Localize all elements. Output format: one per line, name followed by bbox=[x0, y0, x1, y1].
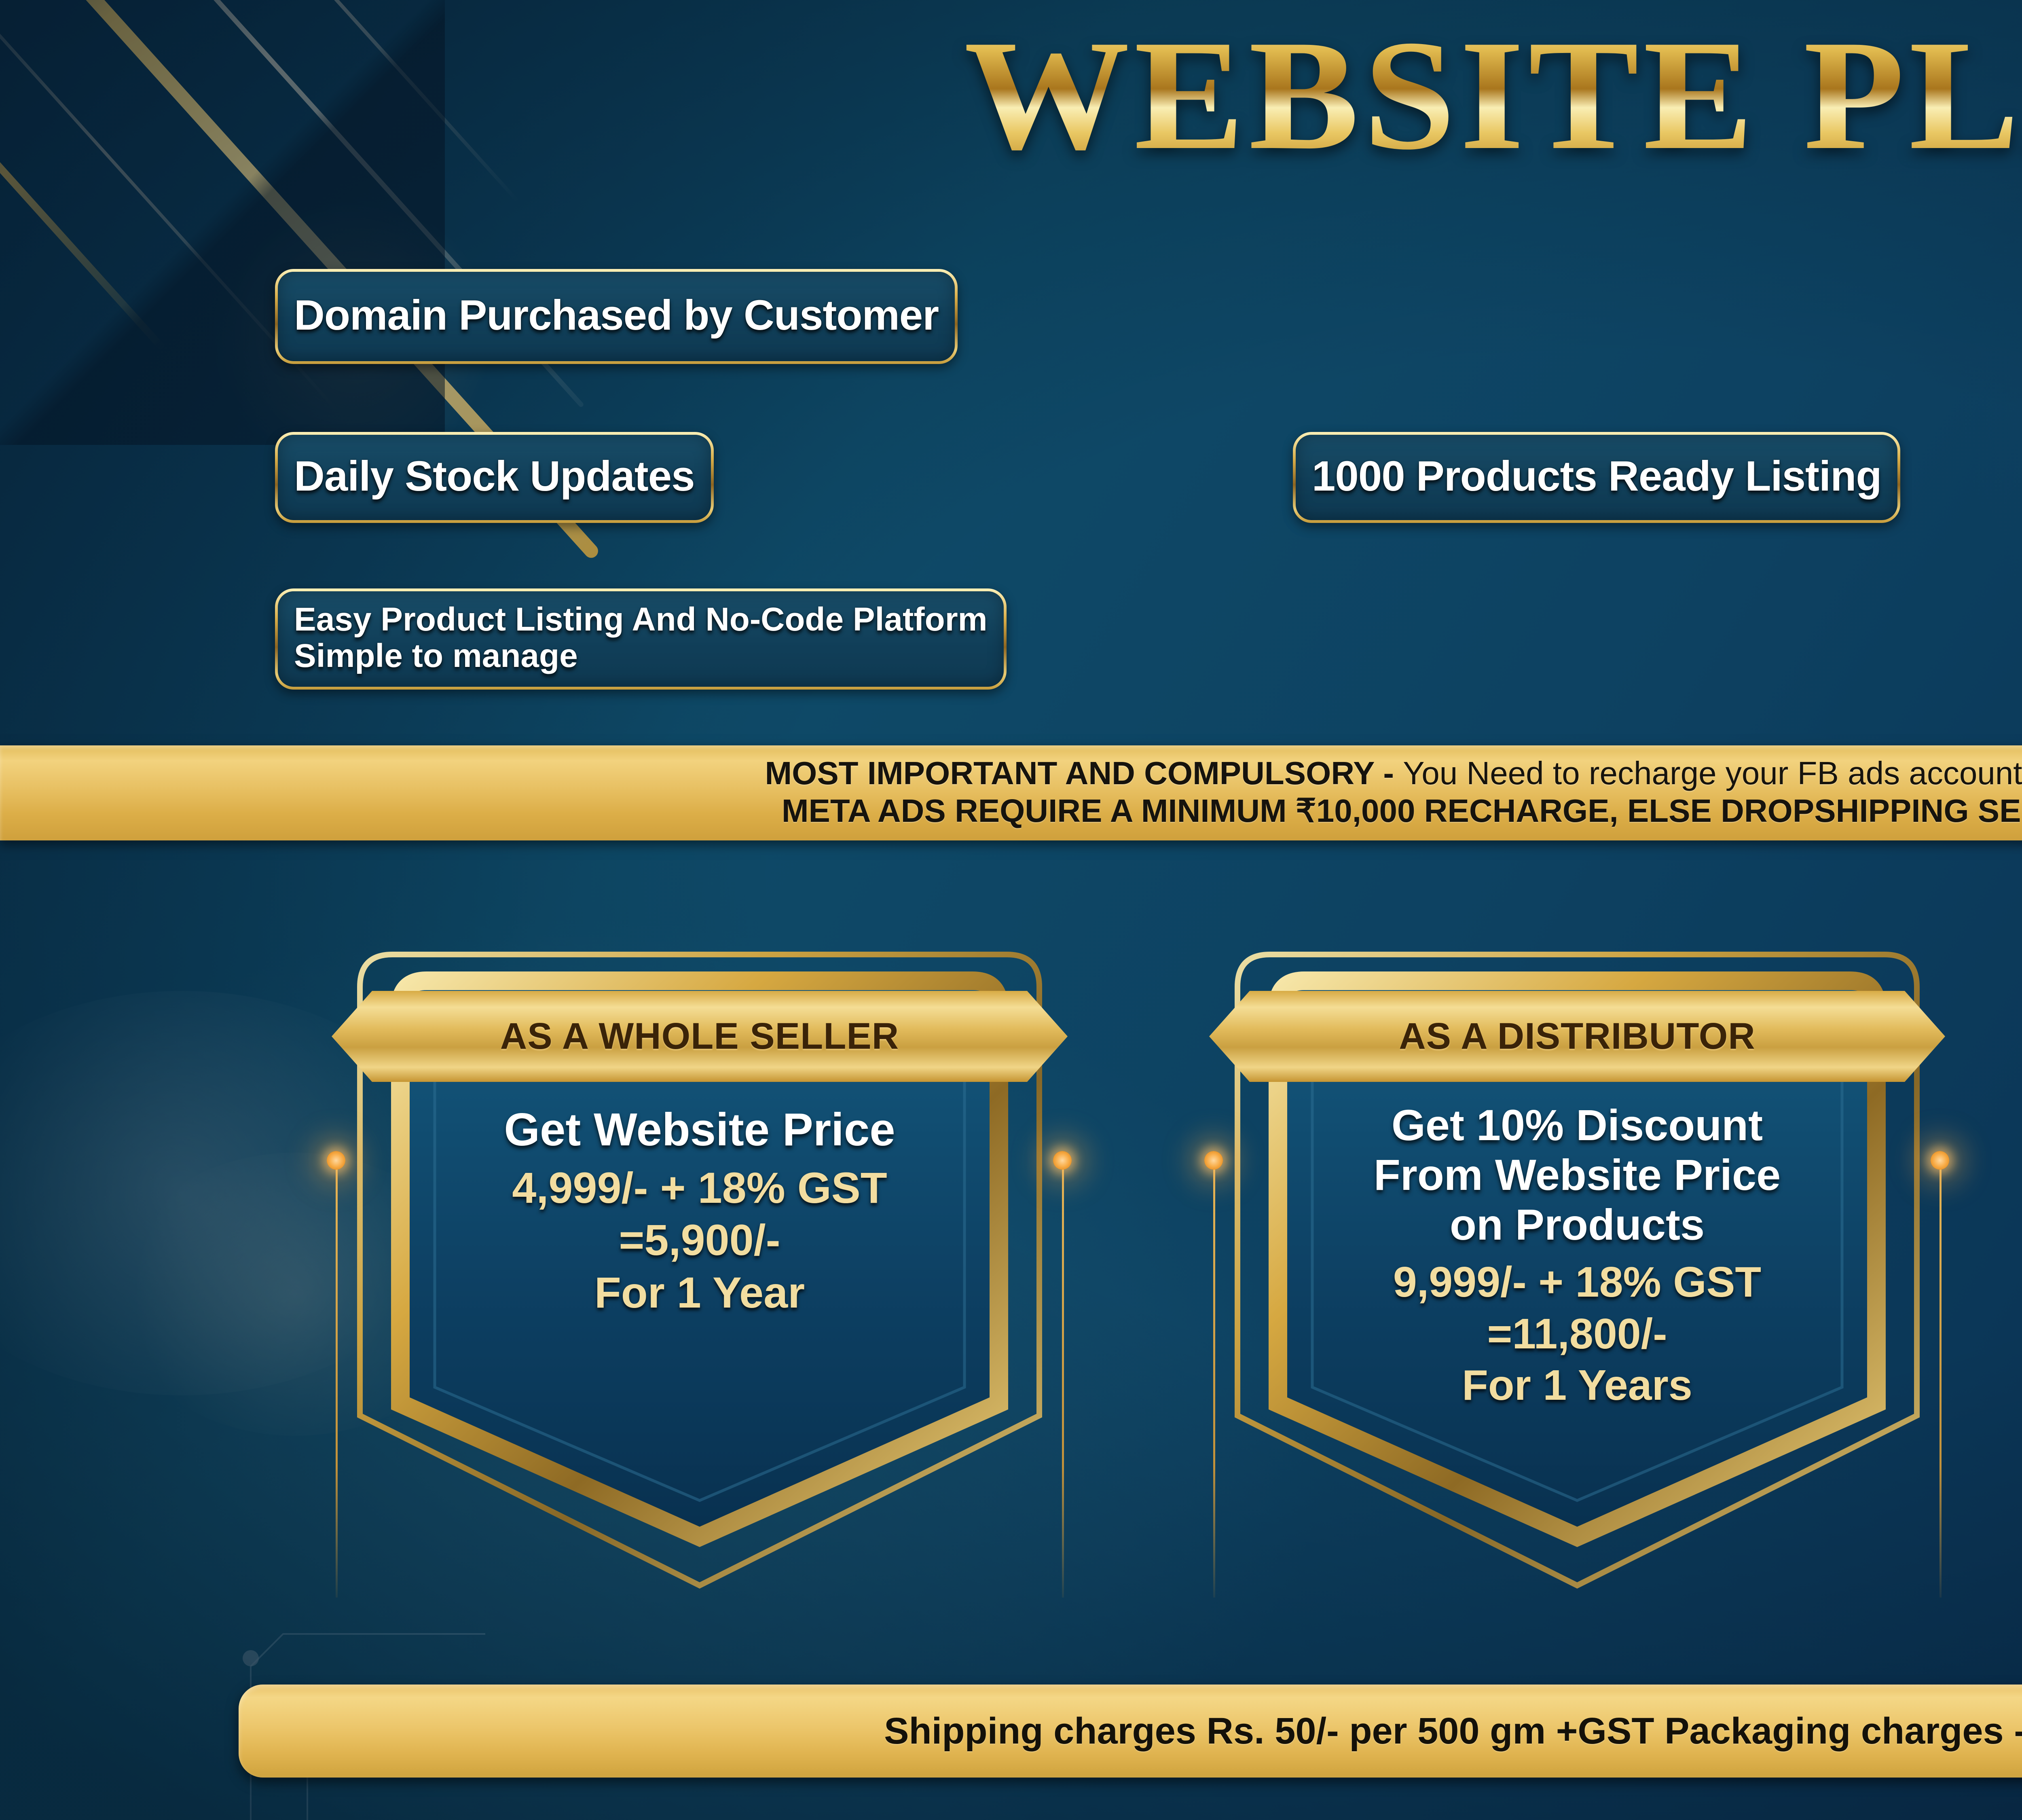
shipping-charges-label: Shipping charges Rs. 50/- per 500 gm +GS… bbox=[884, 1710, 2022, 1752]
shield-glow-dot-right bbox=[1053, 1151, 1072, 1170]
plan-content-distributor: Get 10% Discount From Website Price on P… bbox=[1217, 1100, 1937, 1411]
plan-ribbon-distributor: AS A DISTRIBUTOR bbox=[1209, 991, 1945, 1082]
notice-line-2: META ADS REQUIRE A MINIMUM ₹10,000 RECHA… bbox=[782, 792, 2022, 830]
feature-row-2: Daily Stock Updates 1000 Products Ready … bbox=[275, 432, 2022, 523]
plan-price-line: 4,999/- + 18% GST bbox=[512, 1162, 887, 1214]
feature-row-1: Domain Purchased by Customer Order Manag… bbox=[275, 269, 2022, 364]
plan-ribbon-whole-seller: AS A WHOLE SELLER bbox=[332, 991, 1068, 1082]
plan-card-distributor[interactable]: AS A DISTRIBUTOR Get 10% Discount From W… bbox=[1217, 906, 1937, 1602]
plan-card-whole-seller[interactable]: AS A WHOLE SELLER Get Website Price 4,99… bbox=[340, 906, 1060, 1602]
feature-pill-daily-stock-updates[interactable]: Daily Stock Updates bbox=[275, 432, 714, 523]
feature-pill-label: Daily Stock Updates bbox=[294, 454, 695, 499]
feature-pill-label: Easy Product Listing And No-Code Platfor… bbox=[294, 601, 988, 674]
feature-row-3: Easy Product Listing And No-Code Platfor… bbox=[275, 588, 2022, 690]
plan-price-line: =5,900/- bbox=[619, 1214, 780, 1266]
plan-ribbon-label: AS A WHOLE SELLER bbox=[500, 1015, 899, 1058]
important-notice-banner: MOST IMPORTANT AND COMPULSORY - You Need… bbox=[0, 745, 2022, 840]
pricing-cards: AS A WHOLE SELLER Get Website Price 4,99… bbox=[0, 882, 2022, 1682]
page-title-wrapper: WEBSITE PLAN bbox=[0, 16, 2022, 174]
shield-stem-left bbox=[336, 1161, 338, 1598]
notice-line-1-bold: MOST IMPORTANT AND COMPULSORY - bbox=[765, 755, 1403, 791]
plan-headline-line: on Products bbox=[1450, 1200, 1705, 1249]
notice-line-1-rest: You Need to recharge your FB ads account… bbox=[1403, 755, 2022, 791]
feature-pill-label: 1000 Products Ready Listing bbox=[1312, 454, 1881, 499]
notice-line-1: MOST IMPORTANT AND COMPULSORY - You Need… bbox=[765, 755, 2022, 792]
plan-content-whole-seller: Get Website Price 4,999/- + 18% GST =5,9… bbox=[340, 1104, 1060, 1318]
feature-pill-label: Domain Purchased by Customer bbox=[294, 293, 939, 338]
shield-glow-dot-left bbox=[327, 1151, 345, 1170]
plan-price-line: 9,999/- + 18% GST bbox=[1393, 1257, 1761, 1308]
plan-headline-line: Get 10% Discount bbox=[1392, 1100, 1763, 1150]
page-title: WEBSITE PLAN bbox=[964, 16, 2022, 174]
shield-glow-dot-right bbox=[1931, 1151, 1949, 1170]
plan-ribbon-label: AS A DISTRIBUTOR bbox=[1399, 1015, 1756, 1058]
feature-pill-1000-products[interactable]: 1000 Products Ready Listing bbox=[1293, 432, 1900, 523]
shipping-charges-banner: Shipping charges Rs. 50/- per 500 gm +GS… bbox=[239, 1685, 2022, 1778]
plan-headline-line: From Website Price bbox=[1374, 1150, 1781, 1200]
plan-price-line: For 1 Year bbox=[594, 1266, 805, 1319]
feature-pill-domain-purchased[interactable]: Domain Purchased by Customer bbox=[275, 269, 958, 364]
plan-price-line: =11,800/- bbox=[1487, 1308, 1667, 1360]
plan-price-line: For 1 Years bbox=[1462, 1360, 1692, 1411]
shield-stem-right bbox=[1062, 1161, 1064, 1598]
shield-stem-left bbox=[1213, 1161, 1215, 1598]
shield-stem-right bbox=[1940, 1161, 1942, 1598]
shield-glow-dot-left bbox=[1204, 1151, 1223, 1170]
feature-pill-easy-product-listing[interactable]: Easy Product Listing And No-Code Platfor… bbox=[275, 588, 1007, 690]
plan-headline-line: Get Website Price bbox=[504, 1104, 895, 1156]
